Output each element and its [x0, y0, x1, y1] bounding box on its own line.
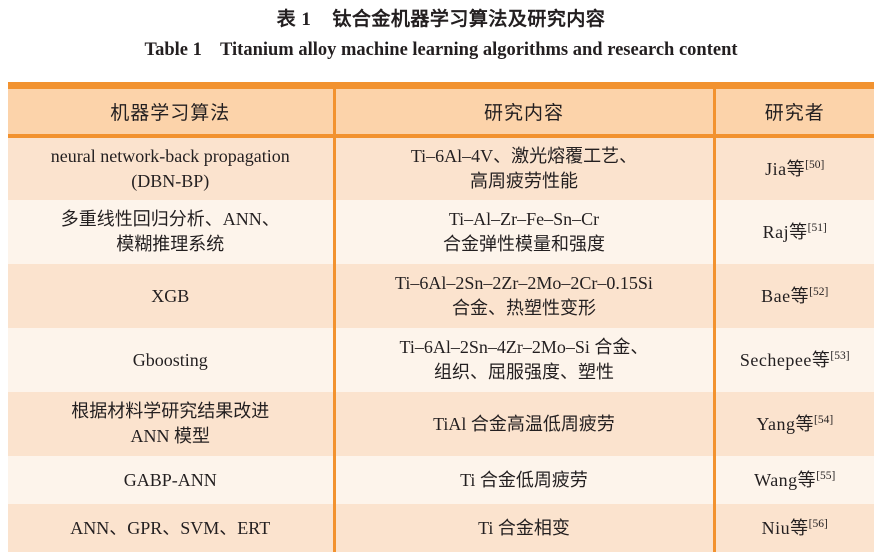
table-row: 根据材料学研究结果改进 ANN 模型 TiAl 合金高温低周疲劳 Yang等[5…: [8, 392, 874, 456]
content-line-2: 合金弹性模量和强度: [342, 232, 707, 257]
table-body: neural network-back propagation (DBN-BP)…: [8, 136, 874, 552]
cell-algorithm: ANN、GPR、SVM、ERT: [8, 504, 334, 552]
table-row: ANN、GPR、SVM、ERT Ti 合金相变 Niu等[56]: [8, 504, 874, 552]
algorithm-line-2: 模糊推理系统: [14, 232, 327, 257]
cell-researcher: Yang等[54]: [714, 392, 874, 456]
table-container: 机器学习算法 研究内容 研究者 neural network-back prop…: [8, 82, 874, 552]
reference-superscript: [53]: [830, 350, 849, 362]
content-line-1: Ti–6Al–4V、激光熔覆工艺、: [342, 144, 707, 169]
researcher-name: Raj等: [763, 222, 808, 242]
algorithm-line-1: GABP-ANN: [14, 468, 327, 493]
reference-superscript: [52]: [809, 286, 828, 298]
table-row: Gboosting Ti–6Al–2Sn–4Zr–2Mo–Si 合金、 组织、屈…: [8, 328, 874, 392]
reference-superscript: [56]: [809, 518, 828, 530]
algorithm-line-1: 根据材料学研究结果改进: [14, 399, 327, 424]
content-line-2: 高周疲劳性能: [342, 169, 707, 194]
cell-researcher: Sechepee等[53]: [714, 328, 874, 392]
cell-algorithm: neural network-back propagation (DBN-BP): [8, 136, 334, 200]
reference-superscript: [54]: [814, 414, 833, 426]
algorithm-line-1: Gboosting: [14, 348, 327, 373]
cell-researcher: Niu等[56]: [714, 504, 874, 552]
column-header-algorithm: 机器学习算法: [8, 89, 334, 136]
algorithm-line-2: ANN 模型: [14, 424, 327, 449]
cell-algorithm: 根据材料学研究结果改进 ANN 模型: [8, 392, 334, 456]
cell-algorithm: GABP-ANN: [8, 456, 334, 504]
researcher-name: Bae等: [761, 286, 809, 306]
cell-researcher: Jia等[50]: [714, 136, 874, 200]
content-line-1: Ti 合金低周疲劳: [342, 468, 707, 493]
cell-algorithm: 多重线性回归分析、ANN、 模糊推理系统: [8, 200, 334, 264]
content-line-1: Ti 合金相变: [342, 516, 707, 541]
cell-algorithm: Gboosting: [8, 328, 334, 392]
content-line-1: TiAl 合金高温低周疲劳: [342, 412, 707, 437]
cell-content: Ti–6Al–4V、激光熔覆工艺、 高周疲劳性能: [334, 136, 714, 200]
table-header-row: 机器学习算法 研究内容 研究者: [8, 89, 874, 136]
machine-learning-algorithms-table: 机器学习算法 研究内容 研究者 neural network-back prop…: [8, 89, 874, 552]
algorithm-line-1: XGB: [14, 284, 327, 309]
content-line-2: 合金、热塑性变形: [342, 296, 707, 321]
algorithm-line-1: ANN、GPR、SVM、ERT: [14, 516, 327, 541]
cell-content: Ti–Al–Zr–Fe–Sn–Cr 合金弹性模量和强度: [334, 200, 714, 264]
cell-researcher: Bae等[52]: [714, 264, 874, 328]
algorithm-line-2: (DBN-BP): [14, 169, 327, 194]
table-row: neural network-back propagation (DBN-BP)…: [8, 136, 874, 200]
cell-content: Ti 合金相变: [334, 504, 714, 552]
reference-superscript: [55]: [816, 470, 835, 482]
cell-content: Ti–6Al–2Sn–4Zr–2Mo–Si 合金、 组织、屈服强度、塑性: [334, 328, 714, 392]
content-line-1: Ti–6Al–2Sn–4Zr–2Mo–Si 合金、: [342, 335, 707, 360]
researcher-name: Sechepee等: [740, 350, 830, 370]
content-line-2: 组织、屈服强度、塑性: [342, 360, 707, 385]
cell-researcher: Wang等[55]: [714, 456, 874, 504]
table-caption-english: Table 1 Titanium alloy machine learning …: [0, 33, 882, 63]
reference-superscript: [51]: [808, 222, 827, 234]
researcher-name: Jia等: [765, 159, 805, 179]
table-row: 多重线性回归分析、ANN、 模糊推理系统 Ti–Al–Zr–Fe–Sn–Cr 合…: [8, 200, 874, 264]
cell-content: TiAl 合金高温低周疲劳: [334, 392, 714, 456]
cell-researcher: Raj等[51]: [714, 200, 874, 264]
researcher-name: Yang等: [756, 414, 814, 434]
table-figure-page: 表 1 钛合金机器学习算法及研究内容 Table 1 Titanium allo…: [0, 0, 882, 552]
content-line-1: Ti–6Al–2Sn–2Zr–2Mo–2Cr–0.15Si: [342, 271, 707, 296]
table-row: XGB Ti–6Al–2Sn–2Zr–2Mo–2Cr–0.15Si 合金、热塑性…: [8, 264, 874, 328]
algorithm-line-1: 多重线性回归分析、ANN、: [14, 207, 327, 232]
researcher-name: Niu等: [762, 518, 809, 538]
table-caption-chinese: 表 1 钛合金机器学习算法及研究内容: [0, 0, 882, 33]
cell-content: Ti–6Al–2Sn–2Zr–2Mo–2Cr–0.15Si 合金、热塑性变形: [334, 264, 714, 328]
researcher-name: Wang等: [754, 470, 816, 490]
content-line-1: Ti–Al–Zr–Fe–Sn–Cr: [342, 207, 707, 232]
cell-algorithm: XGB: [8, 264, 334, 328]
table-row: GABP-ANN Ti 合金低周疲劳 Wang等[55]: [8, 456, 874, 504]
cell-content: Ti 合金低周疲劳: [334, 456, 714, 504]
reference-superscript: [50]: [805, 159, 824, 171]
table-header: 机器学习算法 研究内容 研究者: [8, 89, 874, 136]
column-header-researcher: 研究者: [714, 89, 874, 136]
algorithm-line-1: neural network-back propagation: [14, 144, 327, 169]
column-header-content: 研究内容: [334, 89, 714, 136]
